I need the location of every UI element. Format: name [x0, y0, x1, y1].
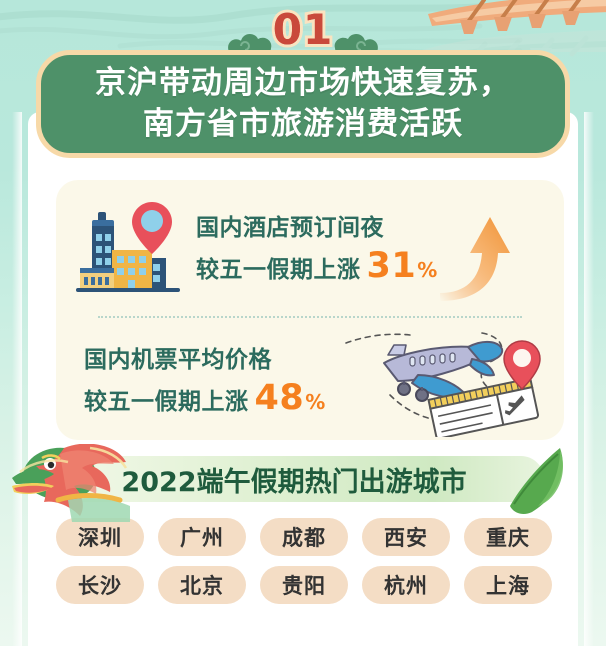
infographic-page: 01 01 京沪带动周边市场快速复苏， 南方省市旅游消费活跃	[0, 0, 606, 646]
city-chip[interactable]: 广州	[158, 518, 246, 556]
stats-panel: 国内酒店预订间夜 较五一假期上涨 31 %	[56, 180, 564, 440]
city-chip[interactable]: 贵阳	[260, 566, 348, 604]
headline-banner: 京沪带动周边市场快速复苏， 南方省市旅游消费活跃	[36, 50, 570, 158]
city-chip[interactable]: 成都	[260, 518, 348, 556]
up-trend-arrow-icon	[440, 197, 526, 301]
flight-stat-line-1: 国内机票平均价格	[84, 341, 326, 379]
bamboo-leaf-icon	[498, 440, 580, 520]
hotel-stat-prefix: 较五一假期上涨	[196, 251, 361, 289]
city-chip[interactable]: 深圳	[56, 518, 144, 556]
hotel-stat-line-1: 国内酒店预订间夜	[196, 209, 438, 247]
hotel-stat-line-2: 较五一假期上涨 31 %	[196, 247, 438, 289]
headline-line-1: 京沪带动周边市场快速复苏，	[95, 63, 511, 104]
stat-row-hotel: 国内酒店预订间夜 较五一假期上涨 31 %	[56, 188, 564, 310]
flight-stat-unit: %	[305, 383, 326, 421]
city-chip[interactable]: 重庆	[464, 518, 552, 556]
city-chip[interactable]: 长沙	[56, 566, 144, 604]
section-title: 2022端午假期热门出游城市	[121, 460, 466, 499]
headline-line-2: 南方省市旅游消费活跃	[143, 104, 463, 145]
airplane-ticket-icon	[332, 319, 542, 437]
hotel-buildings-icon	[70, 196, 190, 302]
city-chips: 深圳 广州 成都 西安 重庆 长沙 北京 贵阳 杭州 上海	[56, 518, 552, 614]
city-chip[interactable]: 西安	[362, 518, 450, 556]
city-chip[interactable]: 上海	[464, 566, 552, 604]
city-row-2: 长沙 北京 贵阳 杭州 上海	[56, 566, 552, 604]
stat-row-flight: 国内机票平均价格 较五一假期上涨 48 %	[56, 326, 564, 436]
card-right-edge	[584, 112, 594, 646]
city-row-1: 深圳 广州 成都 西安 重庆	[56, 518, 552, 556]
hotel-stat-text: 国内酒店预订间夜 较五一假期上涨 31 %	[196, 209, 438, 289]
flight-stat-value: 48	[255, 379, 305, 417]
city-chip[interactable]: 北京	[158, 566, 246, 604]
card-left-edge	[12, 112, 22, 646]
flight-stat-text: 国内机票平均价格 较五一假期上涨 48 %	[84, 341, 326, 421]
city-chip[interactable]: 杭州	[362, 566, 450, 604]
hotel-stat-unit: %	[417, 251, 438, 289]
stats-divider	[98, 316, 522, 318]
hotel-stat-value: 31	[367, 247, 417, 285]
badge-number: 01	[273, 4, 333, 56]
flight-stat-line-2: 较五一假期上涨 48 %	[84, 379, 326, 421]
dragon-head-icon	[2, 444, 130, 522]
flight-stat-prefix: 较五一假期上涨	[84, 383, 249, 421]
